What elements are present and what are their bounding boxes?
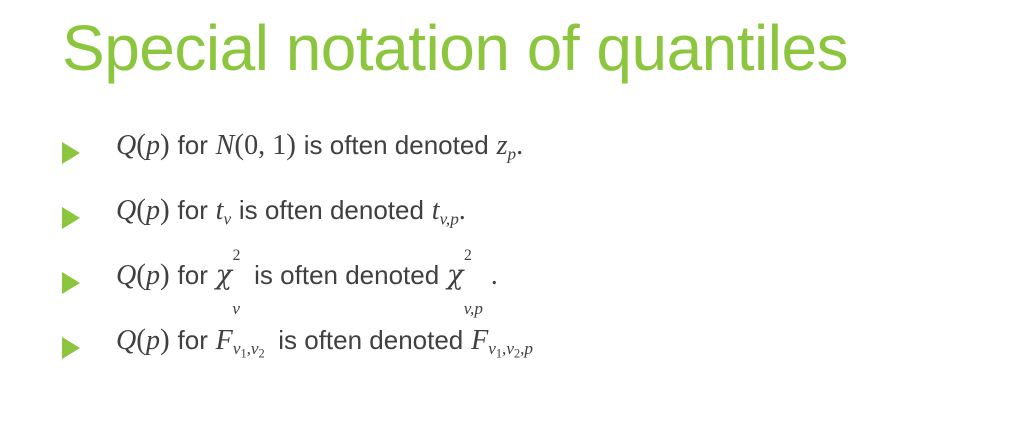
triangle-right-icon <box>62 272 80 294</box>
sentence-terminator: . <box>459 195 466 226</box>
notation-subscript: v,p <box>440 209 459 228</box>
dist-paren-close: ) <box>286 129 296 161</box>
list-item: Q(p)forχ2vis often denotedχ2v,p. <box>62 258 962 323</box>
notation-subscript: p <box>508 144 517 163</box>
bullet-text-t: Q(p)fortvis often denotedtv,p. <box>116 193 466 236</box>
connector-denoted: is often denoted <box>239 195 424 225</box>
notation-base: t <box>432 195 440 226</box>
distribution-subscript: v <box>223 209 231 228</box>
notation-base: z <box>497 130 508 161</box>
paren-close: ) <box>160 324 170 356</box>
paren-open: ( <box>136 194 146 226</box>
list-item: Q(p)forFv1,v2is often denotedFv1,v2,p <box>62 323 962 388</box>
bullet-text-normal: Q(p)forN(0, 1)is often denotedzp. <box>116 128 523 171</box>
distribution-superscript: 2 <box>233 239 241 273</box>
paren-close: ) <box>160 129 170 161</box>
sub-p: p <box>524 339 533 358</box>
dist-paren-open: ( <box>234 129 244 161</box>
notation-superscript: 2 <box>464 239 472 273</box>
notation-subscript: v,p <box>464 292 483 326</box>
connector-denoted: is often denoted <box>304 130 489 160</box>
connector-for: for <box>178 130 208 160</box>
distribution-subscript: v1,v2 <box>233 339 265 358</box>
quantile-symbol: Q <box>116 325 136 356</box>
list-item: Q(p)forN(0, 1)is often denotedzp. <box>62 128 962 193</box>
distribution-symbol: F <box>216 325 233 356</box>
quantile-argument: p <box>146 195 160 226</box>
quantile-argument: p <box>146 260 160 291</box>
paren-open: ( <box>136 324 146 356</box>
quantile-symbol: Q <box>116 195 136 226</box>
sub-v1: v <box>488 339 496 358</box>
sentence-terminator: . <box>491 260 498 291</box>
sub-v2-index: 2 <box>259 347 265 361</box>
sentence-terminator: . <box>516 130 523 161</box>
distribution-symbol: χ <box>216 260 232 291</box>
list-item: Q(p)fortvis often denotedtv,p. <box>62 193 962 258</box>
connector-for: for <box>178 195 208 225</box>
connector-denoted: is often denoted <box>278 325 463 355</box>
quantile-symbol: Q <box>116 260 136 291</box>
sub-v2: v <box>251 339 259 358</box>
bullet-text-f: Q(p)forFv1,v2is often denotedFv1,v2,p <box>116 323 533 371</box>
quantile-argument: p <box>146 130 160 161</box>
page-title: Special notation of quantiles <box>62 8 848 88</box>
distribution-symbol: N <box>216 130 235 161</box>
connector-for: for <box>178 260 208 290</box>
paren-open: ( <box>136 259 146 291</box>
sub-v2: v <box>506 339 514 358</box>
paren-close: ) <box>160 194 170 226</box>
distribution-args: 0, 1 <box>244 130 286 161</box>
triangle-right-icon <box>62 207 80 229</box>
distribution-subscript: v <box>232 292 240 326</box>
quantile-symbol: Q <box>116 130 136 161</box>
quantile-argument: p <box>146 325 160 356</box>
paren-close: ) <box>160 259 170 291</box>
bullet-text-chi-squared: Q(p)forχ2vis often denotedχ2v,p. <box>116 258 498 293</box>
connector-for: for <box>178 325 208 355</box>
triangle-right-icon <box>62 337 80 359</box>
bullet-list: Q(p)forN(0, 1)is often denotedzp. Q(p)fo… <box>62 128 962 388</box>
connector-denoted: is often denoted <box>254 260 439 290</box>
notation-base: F <box>471 325 488 356</box>
paren-open: ( <box>136 129 146 161</box>
slide-canvas: Special notation of quantiles Q(p)forN(0… <box>0 0 1024 433</box>
notation-subscript: v1,v2,p <box>488 339 533 358</box>
triangle-right-icon <box>62 142 80 164</box>
notation-base: χ <box>447 260 463 291</box>
